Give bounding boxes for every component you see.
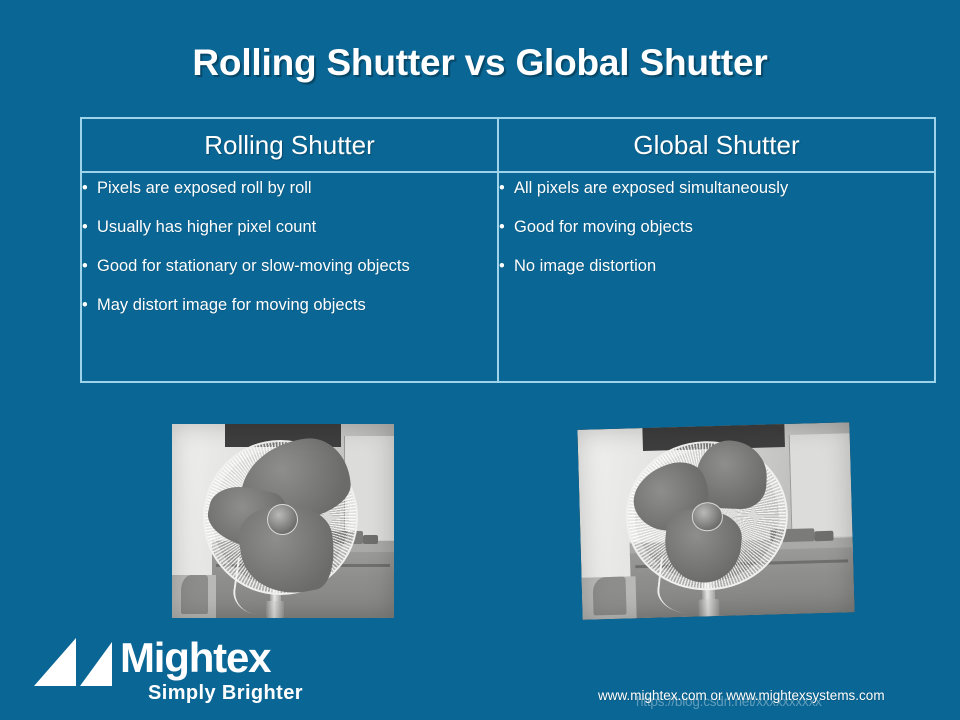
list-item: Pixels are exposed roll by roll — [82, 173, 497, 204]
footer-watermark-text: https://blog.csdn.net/xxxxxxxxxx — [636, 694, 822, 709]
table-header-global-shutter: Global Shutter — [498, 118, 935, 172]
global-shutter-fan-photo — [577, 422, 854, 620]
comparison-table: Rolling Shutter Global Shutter Pixels ar… — [80, 117, 936, 383]
chair — [181, 575, 208, 614]
fan-hub — [267, 504, 298, 535]
page-title: Rolling Shutter vs Global Shutter — [0, 42, 960, 84]
rolling-shutter-bullet-list: Pixels are exposed roll by roll Usually … — [82, 173, 497, 321]
mightex-logo-mark-icon — [34, 638, 118, 688]
list-item: No image distortion — [499, 251, 934, 282]
photo-scene — [172, 424, 394, 618]
table-cell-global-shutter: All pixels are exposed simultaneously Go… — [498, 172, 935, 382]
list-item: Usually has higher pixel count — [82, 212, 497, 243]
table-cell-rolling-shutter: Pixels are exposed roll by roll Usually … — [81, 172, 498, 382]
table-header-row: Rolling Shutter Global Shutter — [81, 118, 935, 172]
mightex-logo-tagline: Simply Brighter — [148, 682, 303, 705]
table-header-rolling-shutter: Rolling Shutter — [81, 118, 498, 172]
table-body-row: Pixels are exposed roll by roll Usually … — [81, 172, 935, 382]
list-item: Good for stationary or slow-moving objec… — [82, 251, 497, 282]
global-shutter-bullet-list: All pixels are exposed simultaneously Go… — [499, 173, 934, 282]
list-item: All pixels are exposed simultaneously — [499, 173, 934, 204]
counter-object-b — [814, 531, 833, 541]
mightex-logo-wordmark: Mightex — [120, 634, 270, 682]
photo-scene — [577, 422, 854, 620]
rolling-shutter-fan-photo — [172, 424, 394, 618]
list-item: Good for moving objects — [499, 212, 934, 243]
counter-object-b — [363, 535, 379, 545]
mightex-logo: Mightex Simply Brighter — [24, 636, 304, 716]
global-shutter-photo-frame — [575, 421, 857, 621]
list-item: May distort image for moving objects — [82, 290, 497, 321]
chair — [592, 577, 626, 616]
